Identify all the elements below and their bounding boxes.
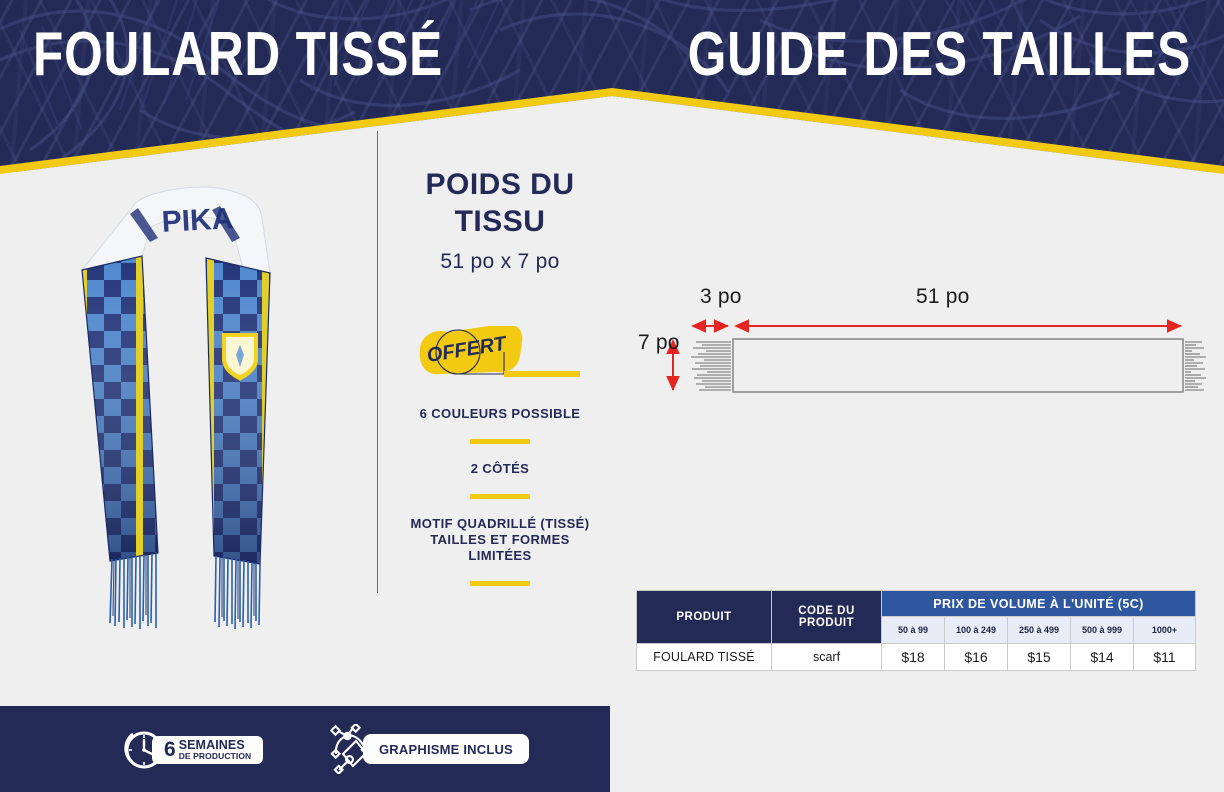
cell-price-5: $11 [1134,644,1196,671]
th-tier-1: 50 à 99 [882,617,945,644]
cell-price-2: $16 [945,644,1008,671]
offert-badge-icon: OFFERT [412,326,588,386]
divider-bar-1 [470,439,530,444]
feature-pattern-line1: MOTIF QUADRILLÉ (TISSÉ) [398,516,602,532]
cell-price-4: $14 [1071,644,1134,671]
th-tier-2: 100 à 249 [945,617,1008,644]
badge-graphic-design: GRAPHISME INCLUS [325,724,529,774]
cell-price-1: $18 [882,644,945,671]
th-produit: PRODUIT [637,591,772,644]
footer-badge-row: 6 SEMAINES DE PRODUCTION [0,706,610,792]
product-dimensions-text: 51 po x 7 po [398,250,602,274]
dim-label-height: 7 po [638,331,680,355]
badge-production-pill: 6 SEMAINES DE PRODUCTION [152,736,263,764]
th-volume-pricing: PRIX DE VOLUME À L'UNITÉ (5C) [882,591,1196,617]
th-tier-3: 250 à 499 [1008,617,1071,644]
cell-produit: FOULARD TISSÉ [637,644,772,671]
cell-price-3: $15 [1008,644,1071,671]
badge-weeks-number: 6 [164,740,176,760]
page-footer: 6 SEMAINES DE PRODUCTION [0,706,610,792]
th-tier-5: 1000+ [1134,617,1196,644]
badge-graphic-pill: GRAPHISME INCLUS [363,734,529,764]
header-title-left: FOULARD TISSÉ [33,24,443,86]
poids-title-line1: POIDS DU [425,168,574,201]
dimension-diagram: 3 po 51 po 7 po [636,286,1206,406]
product-image-scarf: PIKA [70,178,340,648]
dim-label-length: 51 po [916,285,970,309]
th-tier-4: 500 à 999 [1071,617,1134,644]
divider-bar-3 [470,581,530,586]
divider-bar-2 [470,494,530,499]
feature-pattern-line2: TAILLES ET FORMES LIMITÉES [398,532,602,564]
table-row: FOULARD TISSÉ scarf $18 $16 $15 $14 $11 [637,644,1196,671]
cell-code: scarf [772,644,882,671]
volume-pricing-table: PRODUIT CODE DU PRODUIT PRIX DE VOLUME À… [636,590,1196,671]
header-title-right: GUIDE DES TAILLES [688,24,1191,86]
vertical-divider [377,131,378,593]
feature-sides: 2 CÔTÉS [398,461,602,477]
th-code-produit: CODE DU PRODUIT [772,591,882,644]
feature-colors: 6 COULEURS POSSIBLE [398,406,602,422]
product-specs-column: POIDS DU TISSU 51 po x 7 po OFFERT 6 COU… [398,166,602,603]
poids-title-line2: TISSU [455,205,546,238]
offert-badge-wrap: OFFERT [398,326,602,398]
badge-production-label: DE PRODUCTION [179,751,252,761]
badge-weeks-label: SEMAINES [179,739,252,751]
dim-label-fringe: 3 po [700,285,742,309]
poids-du-tissu-title: POIDS DU TISSU [398,166,602,240]
badge-production-time: 6 SEMAINES DE PRODUCTION [122,727,263,773]
badge-graphic-label: GRAPHISME INCLUS [379,742,513,757]
